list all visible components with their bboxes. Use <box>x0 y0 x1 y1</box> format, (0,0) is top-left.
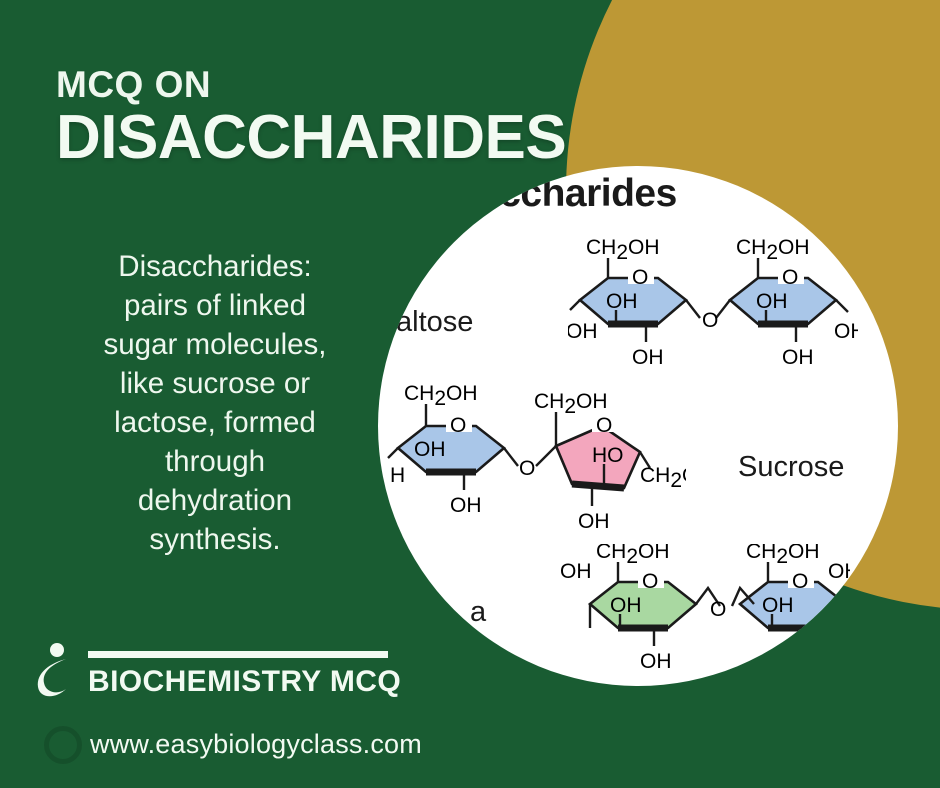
atom-oh-galactose-side: OH <box>560 560 592 583</box>
atom-oh-glucose-side: OH <box>828 560 850 583</box>
atom-oh-glucose-up: OH <box>414 438 446 461</box>
atom-o-ring-galactose: O <box>642 570 658 593</box>
circle-watermark-icon <box>44 726 82 764</box>
atom-oh-left-down: OH <box>632 346 664 369</box>
atom-ch2oh-glucose: CH2OH <box>746 544 820 568</box>
label-lactose: a <box>470 596 486 629</box>
atom-oh-left-side: OH <box>568 320 598 343</box>
atom-ch2oh-glucose: CH2OH <box>404 382 478 410</box>
label-sucrose: Sucrose <box>738 451 844 484</box>
atom-oh-glucose-up: OH <box>762 594 794 617</box>
molecule-maltose: O CH2OH O OH OH OH CH2OH O OH OH OH <box>568 238 858 398</box>
page-title: DISACCHARIDES <box>56 107 566 169</box>
atom-oh-glucose-down: OH <box>450 494 482 517</box>
atom-oh-right-side: OH <box>834 320 858 343</box>
atom-o-link: O <box>519 457 535 480</box>
atom-ho-fructose: HO <box>592 444 624 467</box>
atom-o-ring-glucose: O <box>792 570 808 593</box>
atom-ch2oh-right: CH2OH <box>736 238 810 264</box>
figure-title: accharides <box>478 172 677 216</box>
footer: BIOCHEMISTRY MCQ www.easybiologyclass.co… <box>36 641 596 760</box>
person-figure-icon <box>36 641 74 707</box>
brand-row: BIOCHEMISTRY MCQ <box>36 641 596 707</box>
brand-text-wrap: BIOCHEMISTRY MCQ <box>88 651 401 697</box>
atom-o-link: O <box>710 598 726 621</box>
figure-circle: accharides altose Sucrose a O CH2OH O <box>378 166 898 686</box>
atom-ch2oh-fructose-tail: CH2OH <box>640 464 686 492</box>
atom-o-link: O <box>702 309 718 332</box>
atom-oh-fructose-down: OH <box>578 510 610 533</box>
header: MCQ ON DISACCHARIDES <box>56 66 566 169</box>
atom-oh-left-up: OH <box>606 290 638 313</box>
label-maltose: altose <box>396 306 473 339</box>
brand-divider <box>88 651 388 658</box>
molecule-sucrose: O CH2OH O OH H OH CH2OH O HO CH2OH OH <box>386 382 686 552</box>
atom-oh-right-down: OH <box>782 346 814 369</box>
atom-h-glucose: H <box>390 464 405 487</box>
atom-oh-right-up: OH <box>756 290 788 313</box>
header-kicker: MCQ ON <box>56 66 566 105</box>
atom-o-ring-glucose: O <box>450 414 466 437</box>
atom-o-ring-left: O <box>632 266 648 289</box>
website-url[interactable]: www.easybiologyclass.com <box>90 729 422 760</box>
atom-ch2oh-galactose: CH2OH <box>596 544 670 568</box>
atom-oh-galactose-up: OH <box>610 594 642 617</box>
atom-o-ring-right: O <box>782 266 798 289</box>
brand-name: BIOCHEMISTRY MCQ <box>88 667 401 697</box>
atom-oh-galactose-down: OH <box>640 650 672 673</box>
atom-o-ring-fructose: O <box>596 414 612 437</box>
atom-ch2oh-left: CH2OH <box>586 238 660 264</box>
url-row[interactable]: www.easybiologyclass.com <box>36 729 596 760</box>
poster-canvas: MCQ ON DISACCHARIDES accharides altose S… <box>0 0 940 788</box>
body-paragraph: Disaccharides: pairs of linked sugar mol… <box>56 248 374 560</box>
